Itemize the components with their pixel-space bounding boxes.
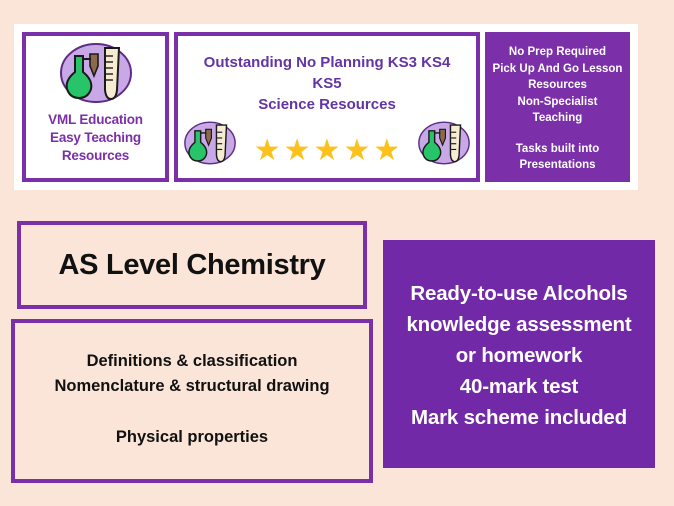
benefit-line-6: Tasks built into bbox=[489, 141, 626, 158]
page-title: AS Level Chemistry bbox=[59, 249, 326, 282]
promo-line-2: knowledge assessment bbox=[406, 309, 631, 340]
promo-line-1: Ready-to-use Alcohols bbox=[410, 278, 627, 309]
brand-logo-caption: VML Education Easy Teaching Resources bbox=[48, 111, 143, 165]
benefit-line-3: Resources bbox=[489, 77, 626, 94]
benefits-spacer bbox=[489, 127, 626, 141]
benefit-line-7: Presentations bbox=[489, 157, 626, 174]
brand-caption-line-3: Resources bbox=[48, 147, 143, 165]
star-icon: ★ bbox=[314, 136, 341, 166]
benefit-line-1: No Prep Required bbox=[489, 44, 626, 61]
benefit-line-4: Non-Specialist bbox=[489, 94, 626, 111]
star-icon: ★ bbox=[373, 136, 400, 166]
banner-panels: VML Education Easy Teaching Resources Ou… bbox=[22, 32, 630, 182]
brand-caption-line-1: VML Education bbox=[48, 111, 143, 129]
brand-logo-panel: VML Education Easy Teaching Resources bbox=[22, 32, 169, 182]
promo-line-4: 40-mark test bbox=[460, 371, 578, 402]
science-flasks-icon bbox=[416, 119, 472, 172]
headline-line-2: Science Resources bbox=[190, 94, 464, 115]
top-banner: VML Education Easy Teaching Resources Ou… bbox=[14, 24, 638, 190]
topic-line-1: Definitions & classification bbox=[87, 349, 298, 374]
promo-line-3: or homework bbox=[456, 340, 583, 371]
promo-box: Ready-to-use Alcohols knowledge assessme… bbox=[383, 240, 655, 468]
star-icon: ★ bbox=[254, 136, 281, 166]
benefit-line-2: Pick Up And Go Lesson bbox=[489, 61, 626, 78]
course-title-box: AS Level Chemistry bbox=[17, 221, 367, 309]
headline-panel: Outstanding No Planning KS3 KS4 KS5 Scie… bbox=[174, 32, 480, 182]
topics-box: Definitions & classification Nomenclatur… bbox=[11, 319, 373, 483]
banner-headline: Outstanding No Planning KS3 KS4 KS5 Scie… bbox=[190, 52, 464, 115]
science-flasks-icon bbox=[57, 42, 135, 109]
brand-caption-line-2: Easy Teaching bbox=[48, 129, 143, 147]
topic-line-2: Nomenclature & structural drawing bbox=[54, 374, 329, 399]
headline-line-1: Outstanding No Planning KS3 KS4 KS5 bbox=[190, 52, 464, 94]
star-icon: ★ bbox=[284, 136, 311, 166]
star-icon: ★ bbox=[343, 136, 370, 166]
benefits-panel: No Prep Required Pick Up And Go Lesson R… bbox=[485, 32, 630, 182]
topic-line-3: Physical properties bbox=[116, 425, 268, 450]
benefit-line-5: Teaching bbox=[489, 110, 626, 127]
promo-line-5: Mark scheme included bbox=[411, 402, 627, 433]
